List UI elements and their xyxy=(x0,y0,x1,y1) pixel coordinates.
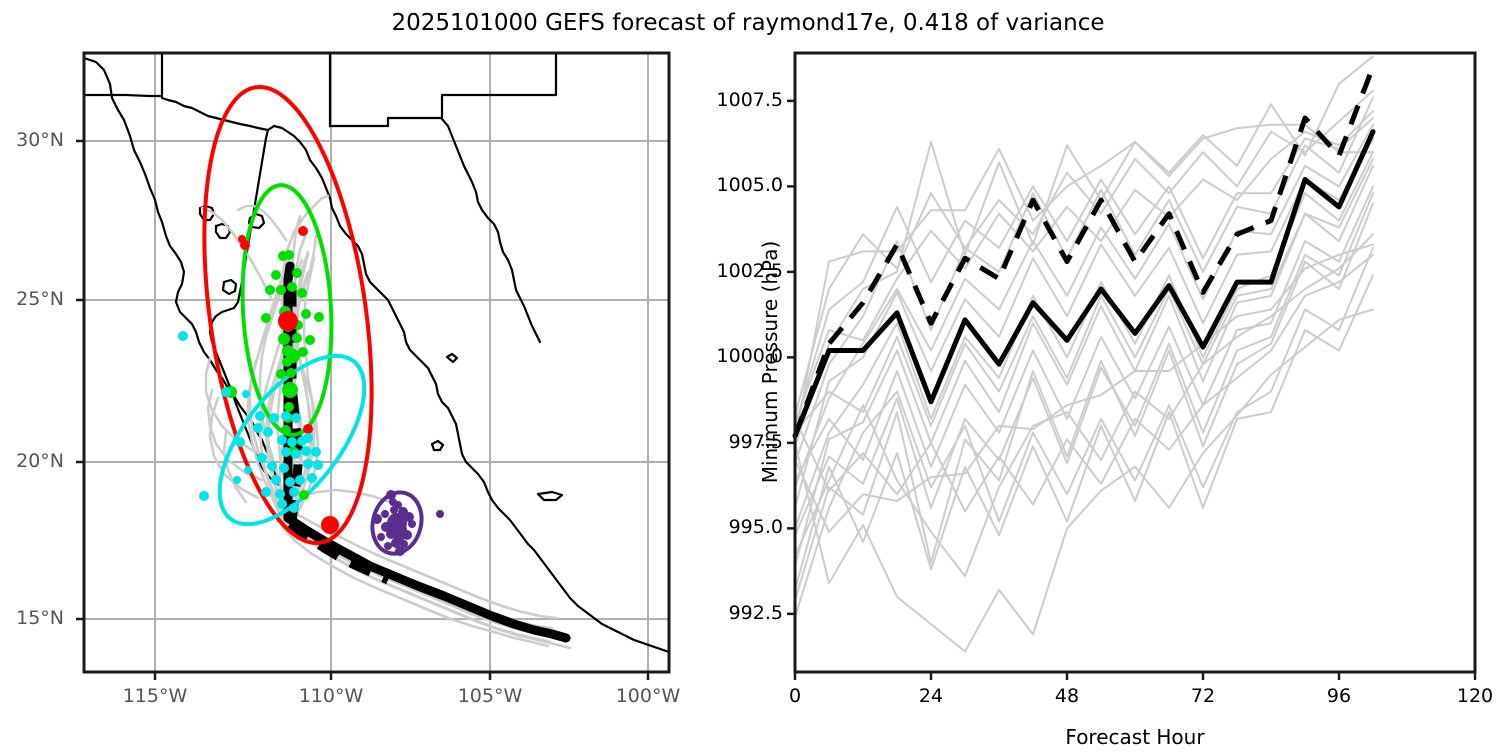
pressure-x-tick-label: 96 xyxy=(1289,685,1389,707)
map-lon-tick-1: 110°W xyxy=(281,685,381,707)
map-lat-tick-3: 15°N xyxy=(0,607,64,629)
figure-root: 2025101000 GEFS forecast of raymond17e, … xyxy=(0,0,1496,754)
map-lat-tick-0: 30°N xyxy=(0,129,64,151)
pressure-x-tick-label: 48 xyxy=(1017,685,1117,707)
pressure-x-tick-label: 72 xyxy=(1153,685,1253,707)
pressure-x-tick-label: 24 xyxy=(881,685,981,707)
pressure-y-tick-label: 1007.5 xyxy=(643,89,783,111)
track-map-panel: 115°W 110°W 105°W 100°W 30°N 25°N 20°N 1… xyxy=(0,40,700,754)
coastline-paths xyxy=(84,54,669,652)
figure-title: 2025101000 GEFS forecast of raymond17e, … xyxy=(0,10,1496,36)
pressure-series-ensemble-09 xyxy=(795,310,1373,652)
track-map-svg xyxy=(0,40,700,754)
map-lon-tick-0: 115°W xyxy=(105,685,205,707)
pressure-plot-svg xyxy=(700,40,1496,754)
pressure-x-tick-label: 120 xyxy=(1425,685,1496,707)
pressure-series-group xyxy=(795,56,1373,651)
pressure-series-ensemble-12 xyxy=(795,193,1373,535)
pressure-series-ensemble-15 xyxy=(795,159,1373,433)
map-lon-tick-2: 105°W xyxy=(440,685,540,707)
pressure-xlabel: Forecast Hour xyxy=(795,725,1475,749)
pressure-y-tick-label: 992.5 xyxy=(643,602,783,624)
map-lat-tick-1: 25°N xyxy=(0,288,64,310)
map-lon-tick-3: 100°W xyxy=(598,685,698,707)
map-lat-tick-2: 20°N xyxy=(0,450,64,472)
pressure-panel: 024487296120 992.5995.0997.51000.01002.5… xyxy=(700,40,1496,754)
pressure-ylabel: Minimum Pressure (hPa) xyxy=(758,162,782,562)
pressure-x-tick-label: 0 xyxy=(745,685,845,707)
pressure-frame xyxy=(795,53,1475,672)
